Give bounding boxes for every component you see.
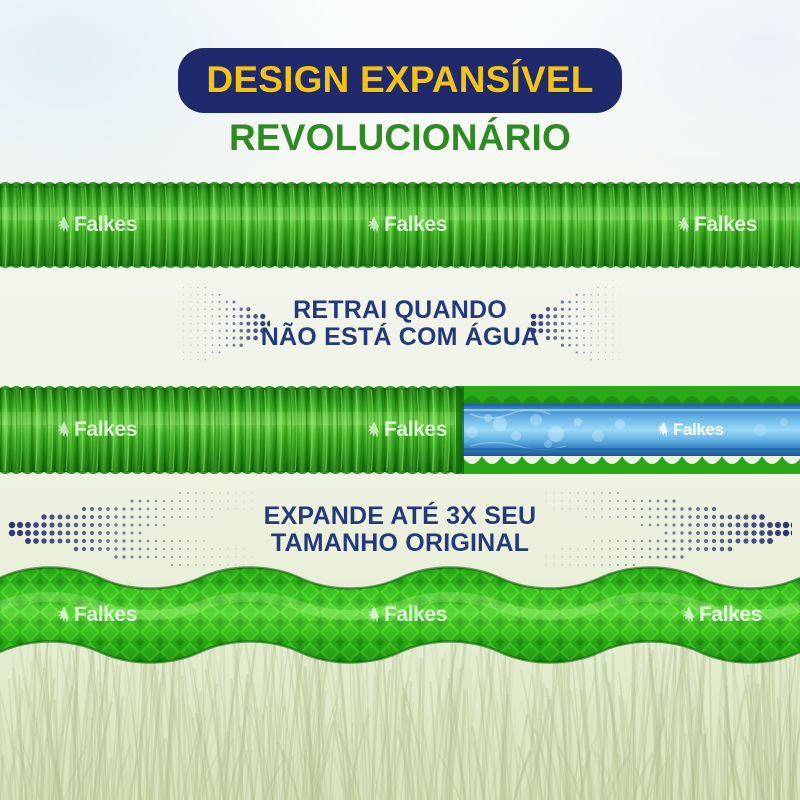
hose-contracted-graphic	[0, 181, 800, 269]
band2-line2: TAMANHO ORIGINAL	[264, 530, 537, 558]
band1-line1: RETRAI QUANDO	[261, 297, 539, 325]
header: DESIGN EXPANSÍVEL REVOLUCIONÁRIO	[0, 0, 800, 158]
band2-line1: EXPANDE ATÉ 3X SEU	[264, 503, 537, 531]
infographic-canvas: DESIGN EXPANSÍVEL REVOLUCIONÁRIO	[0, 0, 800, 800]
feature-band-retract: RETRAI QUANDO NÃO ESTÁ COM ÁGUA	[0, 284, 800, 364]
feature-band-retract-text: RETRAI QUANDO NÃO ESTÁ COM ÁGUA	[247, 297, 553, 352]
page-title-badge: DESIGN EXPANSÍVEL	[178, 48, 621, 113]
halftone-arrow-right-outward	[542, 489, 792, 571]
hose-expanded: FalkesFalkesFalkes	[0, 562, 800, 668]
halftone-arrow-left-outward	[8, 489, 258, 571]
hose-expanded-graphic	[0, 562, 800, 668]
feature-band-expand: EXPANDE ATÉ 3X SEU TAMANHO ORIGINAL	[0, 489, 800, 571]
page-subtitle: REVOLUCIONÁRIO	[0, 119, 800, 158]
hose-contracted: FalkesFalkesFalkes	[0, 181, 800, 269]
hose-expanding: FalkesFalkesFalkes	[0, 384, 800, 476]
hose-expanding-graphic	[0, 384, 800, 476]
band1-line2: NÃO ESTÁ COM ÁGUA	[261, 324, 539, 352]
feature-band-expand-text: EXPANDE ATÉ 3X SEU TAMANHO ORIGINAL	[250, 503, 551, 558]
